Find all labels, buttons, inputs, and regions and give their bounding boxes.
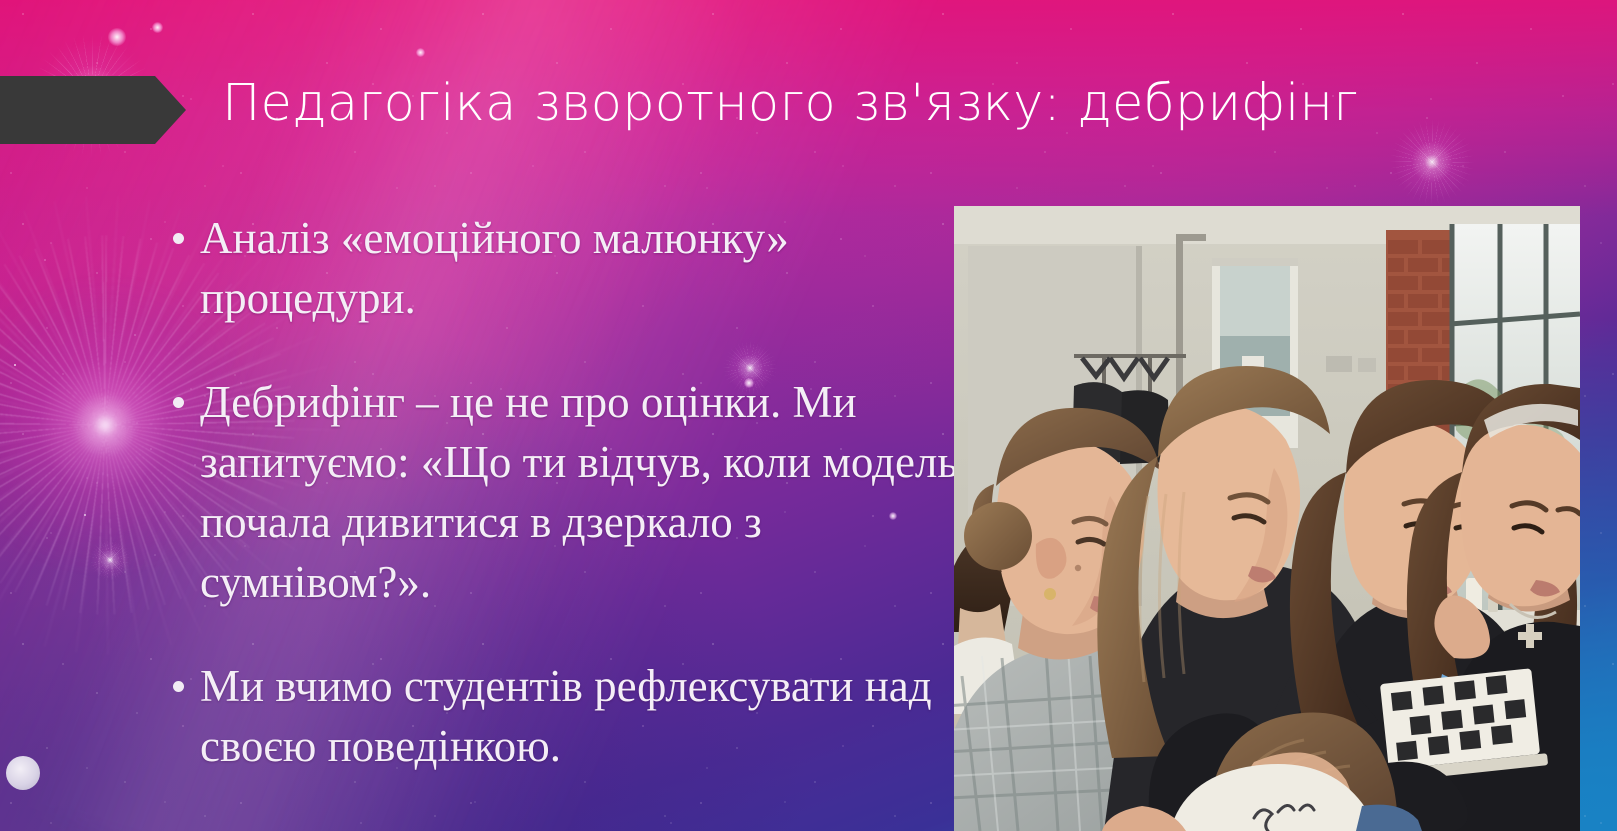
bullet-dot-icon xyxy=(173,233,184,244)
list-item-label: Дебрифінг – це не про оцінки. Ми запитує… xyxy=(200,377,958,607)
bullet-list: Аналіз «емоційного малюнку» процедури. Д… xyxy=(168,208,958,776)
firework-small-core xyxy=(91,541,130,580)
firework-small-core xyxy=(1394,124,1471,201)
list-item-label: Ми вчимо студентів рефлексувати над своє… xyxy=(200,661,932,771)
page-title: Педагогіка зворотного зв'язку: дебрифінг xyxy=(222,74,1562,134)
title-pennant-shape xyxy=(0,76,186,144)
salon-photo-illustration xyxy=(954,206,1580,831)
list-item: Дебрифінг – це не про оцінки. Ми запитує… xyxy=(168,372,958,612)
glow-dot xyxy=(416,48,425,57)
list-item: Аналіз «емоційного малюнку» процедури. xyxy=(168,208,958,328)
corner-orb xyxy=(6,756,40,790)
glow-dot xyxy=(108,28,126,46)
slide-photo xyxy=(954,206,1580,831)
glow-dot xyxy=(152,22,163,33)
bullet-dot-icon xyxy=(173,681,184,692)
bullet-dot-icon xyxy=(173,397,184,408)
list-item: Ми вчимо студентів рефлексувати над своє… xyxy=(168,656,958,776)
list-item-label: Аналіз «емоційного малюнку» процедури. xyxy=(200,213,789,323)
slide: Педагогіка зворотного зв'язку: дебрифінг… xyxy=(0,0,1617,831)
